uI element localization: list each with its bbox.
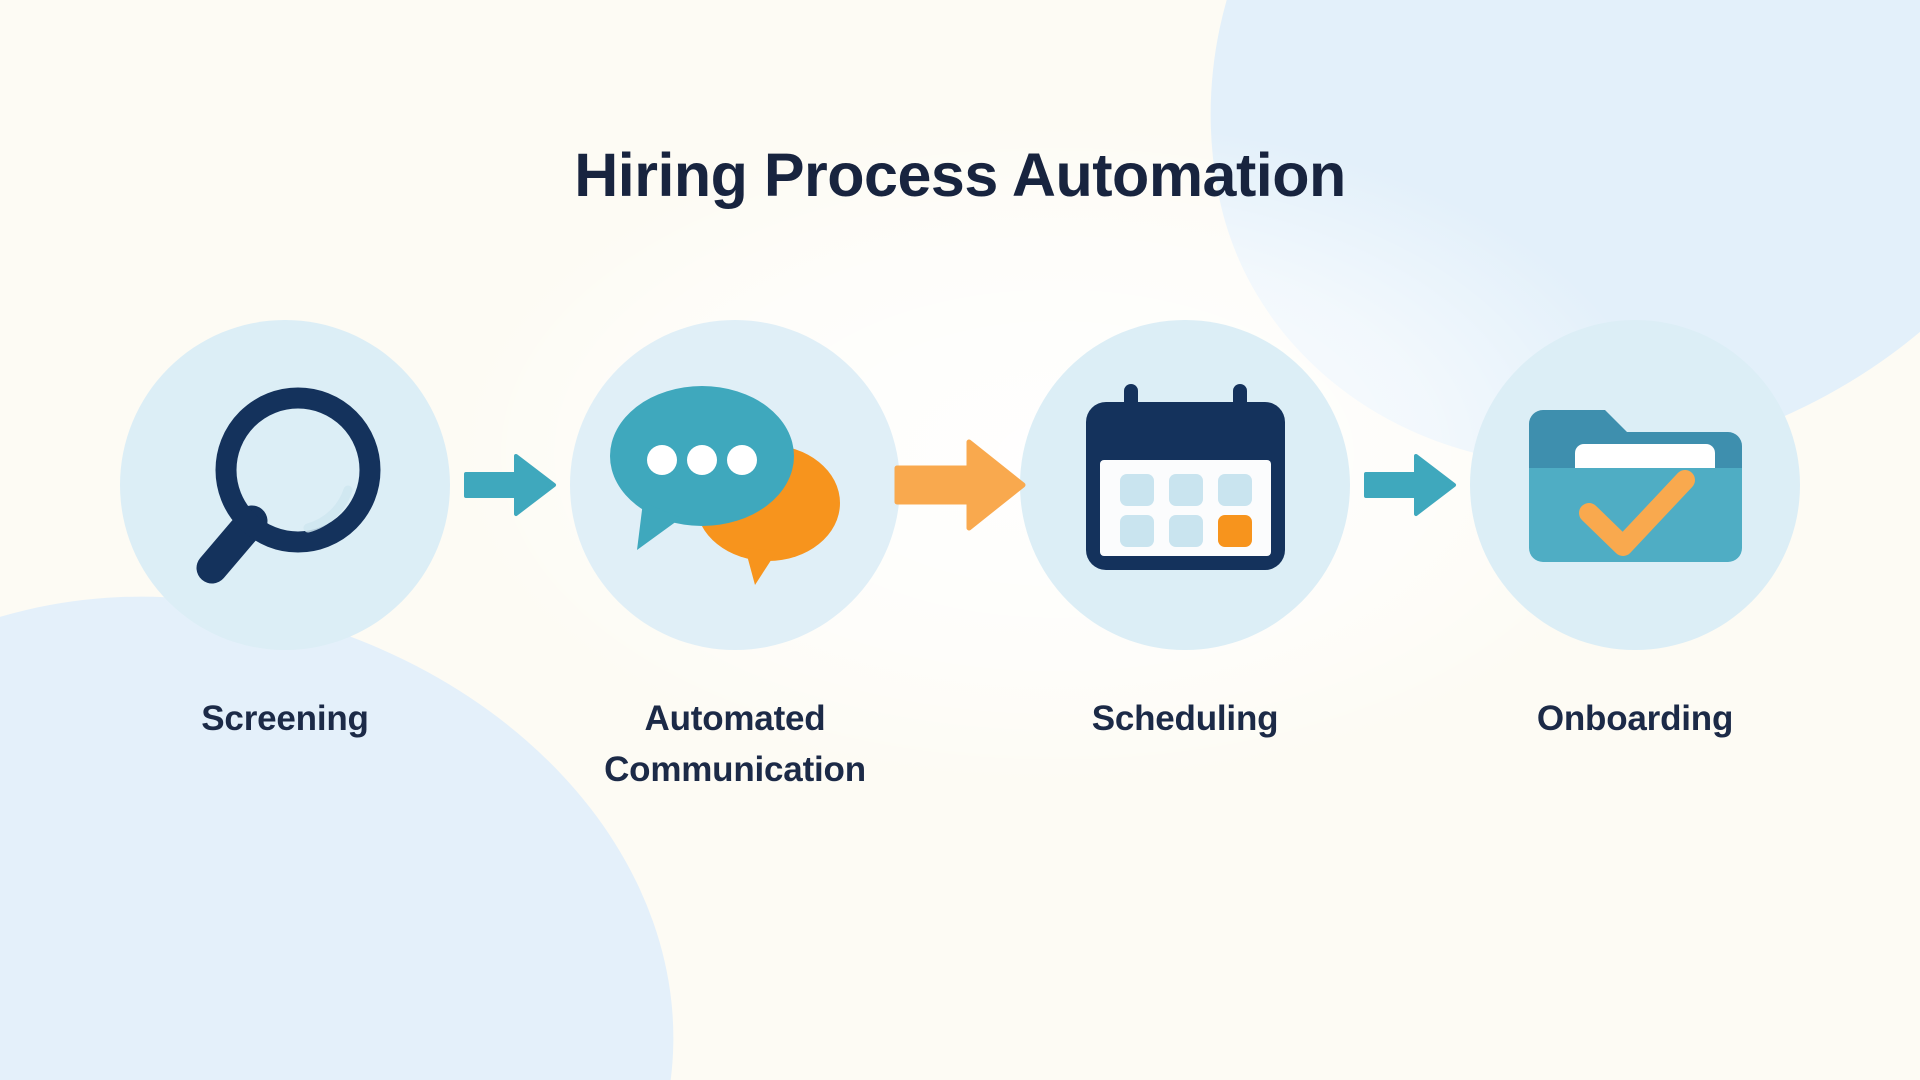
step-onboarding-label: Onboarding: [1465, 694, 1805, 745]
arrow-right-icon: [895, 437, 1025, 533]
step-scheduling-label: Scheduling: [1015, 694, 1355, 745]
step-scheduling-circle: [1020, 320, 1350, 650]
magnifier-icon: [180, 378, 390, 593]
page-title: Hiring Process Automation: [0, 140, 1920, 210]
arrow-3: [1350, 320, 1470, 650]
label-line-2: Communication: [604, 750, 866, 789]
arrow-2: [900, 320, 1020, 650]
step-onboarding[interactable]: Onboarding: [1470, 320, 1800, 745]
folder-check-icon: [1523, 388, 1748, 583]
arrow-right-icon: [464, 452, 556, 518]
step-onboarding-circle: [1470, 320, 1800, 650]
calendar-icon: [1078, 378, 1293, 593]
step-automated-communication-label: Automated Communication: [565, 694, 905, 796]
chat-bubbles-icon: [605, 370, 865, 600]
infographic-canvas: Hiring Process Automation Screening: [0, 0, 1920, 1080]
background-blob-small-dot: [455, 845, 550, 940]
process-flow: Screening: [140, 320, 1780, 700]
step-scheduling[interactable]: Scheduling: [1020, 320, 1350, 745]
step-screening[interactable]: Screening: [120, 320, 450, 745]
step-screening-circle: [120, 320, 450, 650]
label-line-1: Automated: [645, 699, 826, 738]
arrow-1: [450, 320, 570, 650]
arrow-right-icon: [1364, 452, 1456, 518]
step-automated-communication[interactable]: Automated Communication: [570, 320, 900, 796]
step-automated-communication-circle: [570, 320, 900, 650]
step-screening-label: Screening: [115, 694, 455, 745]
